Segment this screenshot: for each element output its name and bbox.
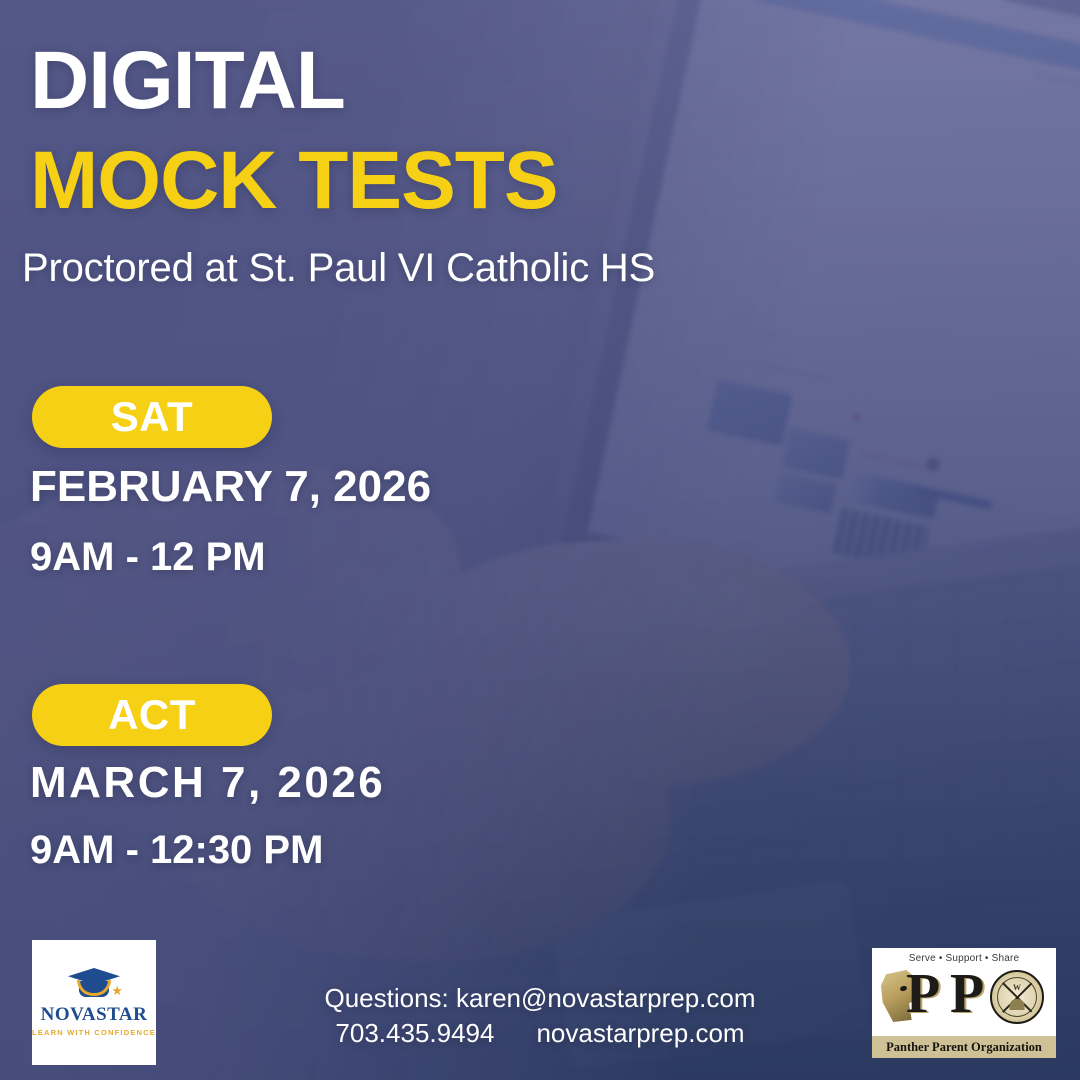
ppo-letter-p1: P bbox=[906, 966, 940, 1022]
ppo-monogram: P P W bbox=[872, 964, 1056, 1026]
ppo-letter-p2: P bbox=[950, 966, 984, 1022]
contact-website[interactable]: novastarprep.com bbox=[536, 1018, 744, 1049]
ppo-name-bar: Panther Parent Organization bbox=[872, 1036, 1056, 1058]
novastar-tagline: LEARN WITH CONFIDENCE bbox=[32, 1028, 156, 1037]
seal-initial: W bbox=[1013, 983, 1021, 992]
ppo-organization-name: Panther Parent Organization bbox=[886, 1040, 1042, 1055]
ppo-logo: Serve • Support • Share P P W Panther Pa… bbox=[872, 948, 1056, 1058]
headline-line-1: DIGITAL bbox=[30, 42, 345, 121]
school-crest-seal-icon: W bbox=[990, 970, 1044, 1024]
sat-time: 9AM - 12 PM bbox=[30, 535, 266, 580]
badge-sat: SAT bbox=[32, 386, 272, 448]
subheadline: Proctored at St. Paul VI Catholic HS bbox=[22, 246, 655, 291]
contact-email-line[interactable]: Questions: karen@novastarprep.com bbox=[290, 980, 790, 1018]
headline-line-2: MOCK TESTS bbox=[30, 142, 558, 221]
novastar-name: NOVASTAR bbox=[41, 1004, 148, 1026]
star-icon: ★ bbox=[111, 984, 123, 997]
sat-date: FEBRUARY 7, 2026 bbox=[30, 462, 431, 512]
contact-block: Questions: karen@novastarprep.com 703.43… bbox=[290, 980, 790, 1049]
graduation-cap-icon: ★ bbox=[66, 968, 122, 1002]
flyer-canvas: DIGITAL MOCK TESTS Proctored at St. Paul… bbox=[0, 0, 1080, 1080]
flyer-content: DIGITAL MOCK TESTS Proctored at St. Paul… bbox=[0, 0, 1080, 1080]
badge-act: ACT bbox=[32, 684, 272, 746]
contact-phone[interactable]: 703.435.9494 bbox=[335, 1018, 494, 1049]
novastar-logo: ★ NOVASTAR LEARN WITH CONFIDENCE bbox=[32, 940, 156, 1065]
act-time: 9AM - 12:30 PM bbox=[30, 828, 323, 873]
act-date: MARCH 7, 2026 bbox=[30, 758, 385, 808]
